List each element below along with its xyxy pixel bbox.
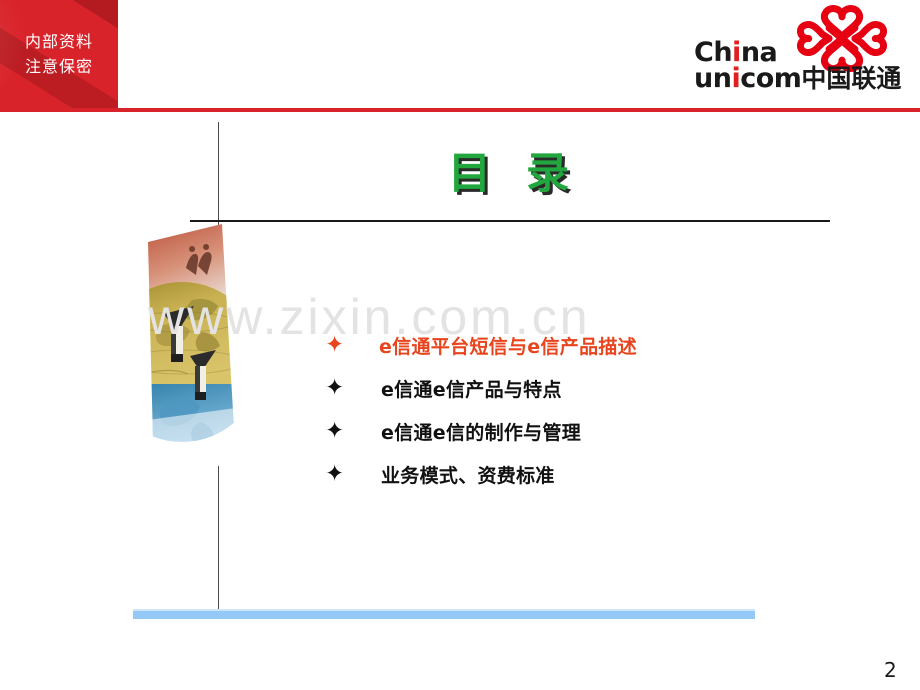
confidential-line-1: 内部资料 [25,29,93,54]
toc-item-2[interactable]: ✦ e信通e信产品与特点 [325,367,885,410]
toc-item-label: 业务模式、资费标准 [381,461,555,488]
toc-item-label: e信通e信的制作与管理 [381,418,581,445]
slide-canvas: 内部资料 注意保密 [0,0,920,690]
star-bullet-icon: ✦ [325,334,351,357]
brand-line-2: unicom [694,66,801,92]
toc-item-label: e信通e信产品与特点 [381,375,562,402]
star-bullet-icon: ✦ [325,377,351,400]
brand-name-cn: 中国联通 [801,67,901,91]
unicom-wordmark: China unicom中国联通 [694,40,904,104]
footer-bar [133,611,755,619]
china-unicom-logo: China unicom中国联通 [690,2,908,106]
toc-item-label: e信通平台短信与e信产品描述 [379,332,637,359]
page-title: 目 录 [448,139,579,201]
page-number: 2 [884,658,897,682]
star-bullet-icon: ✦ [325,463,351,486]
toc-item-4[interactable]: ✦ 业务模式、资费标准 [325,453,885,496]
header-divider [0,108,920,112]
confidential-notice: 内部资料 注意保密 [0,0,118,108]
confidential-line-2: 注意保密 [25,54,93,79]
globe-satellite-illustration [140,222,240,484]
title-underline [190,220,830,222]
toc-item-3[interactable]: ✦ e信通e信的制作与管理 [325,410,885,453]
table-of-contents: ✦ e信通平台短信与e信产品描述 ✦ e信通e信产品与特点 ✦ e信通e信的制作… [325,324,885,496]
star-bullet-icon: ✦ [325,420,351,443]
toc-item-1[interactable]: ✦ e信通平台短信与e信产品描述 [325,324,885,367]
